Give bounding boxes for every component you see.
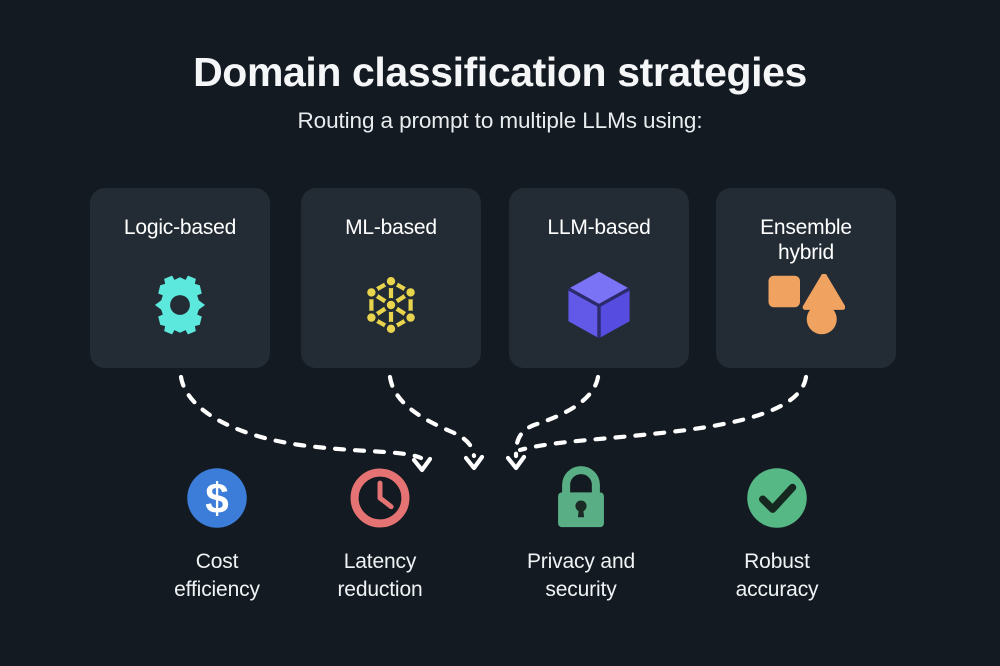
page-subtitle: Routing a prompt to multiple LLMs using: — [0, 108, 1000, 134]
cube-icon — [509, 268, 689, 342]
strategy-card-label: ML-based — [345, 215, 437, 240]
strategy-card-logic-based[interactable]: Logic-based — [90, 188, 270, 368]
dollar-circle-icon: $ — [186, 462, 248, 534]
connector-arrow-4 — [520, 377, 806, 450]
infographic-canvas: Domain classification strategies Routing… — [0, 0, 1000, 666]
padlock-icon — [550, 462, 612, 534]
benefit-latency-reduction[interactable]: Latency reduction — [280, 462, 480, 603]
benefit-label: Robust accuracy — [736, 548, 819, 603]
strategy-card-label: Logic-based — [124, 215, 236, 240]
benefit-robust-accuracy[interactable]: Robust accuracy — [677, 462, 877, 603]
connector-arrow-2 — [390, 377, 474, 456]
benefit-label: Latency reduction — [337, 548, 422, 603]
strategy-card-llm-based[interactable]: LLM-based — [509, 188, 689, 368]
check-circle-icon — [746, 462, 808, 534]
svg-text:$: $ — [205, 475, 228, 522]
benefit-label: Cost efficiency — [174, 548, 260, 603]
benefit-label: Privacy and security — [527, 548, 635, 603]
header: Domain classification strategies Routing… — [0, 50, 1000, 134]
shapes-icon — [716, 268, 896, 342]
connector-arrow-3 — [516, 377, 598, 456]
neural-network-icon — [301, 268, 481, 342]
strategy-card-label: LLM-based — [547, 215, 650, 240]
strategy-card-ml-based[interactable]: ML-based — [301, 188, 481, 368]
benefit-privacy-and-security[interactable]: Privacy and security — [481, 462, 681, 603]
strategy-card-label: Ensemble hybrid — [760, 215, 852, 265]
connector-arrow-1 — [181, 377, 421, 458]
clock-icon — [349, 462, 411, 534]
strategy-card-ensemble-hybrid[interactable]: Ensemble hybrid — [716, 188, 896, 368]
page-title: Domain classification strategies — [0, 50, 1000, 96]
gear-icon — [90, 268, 270, 342]
